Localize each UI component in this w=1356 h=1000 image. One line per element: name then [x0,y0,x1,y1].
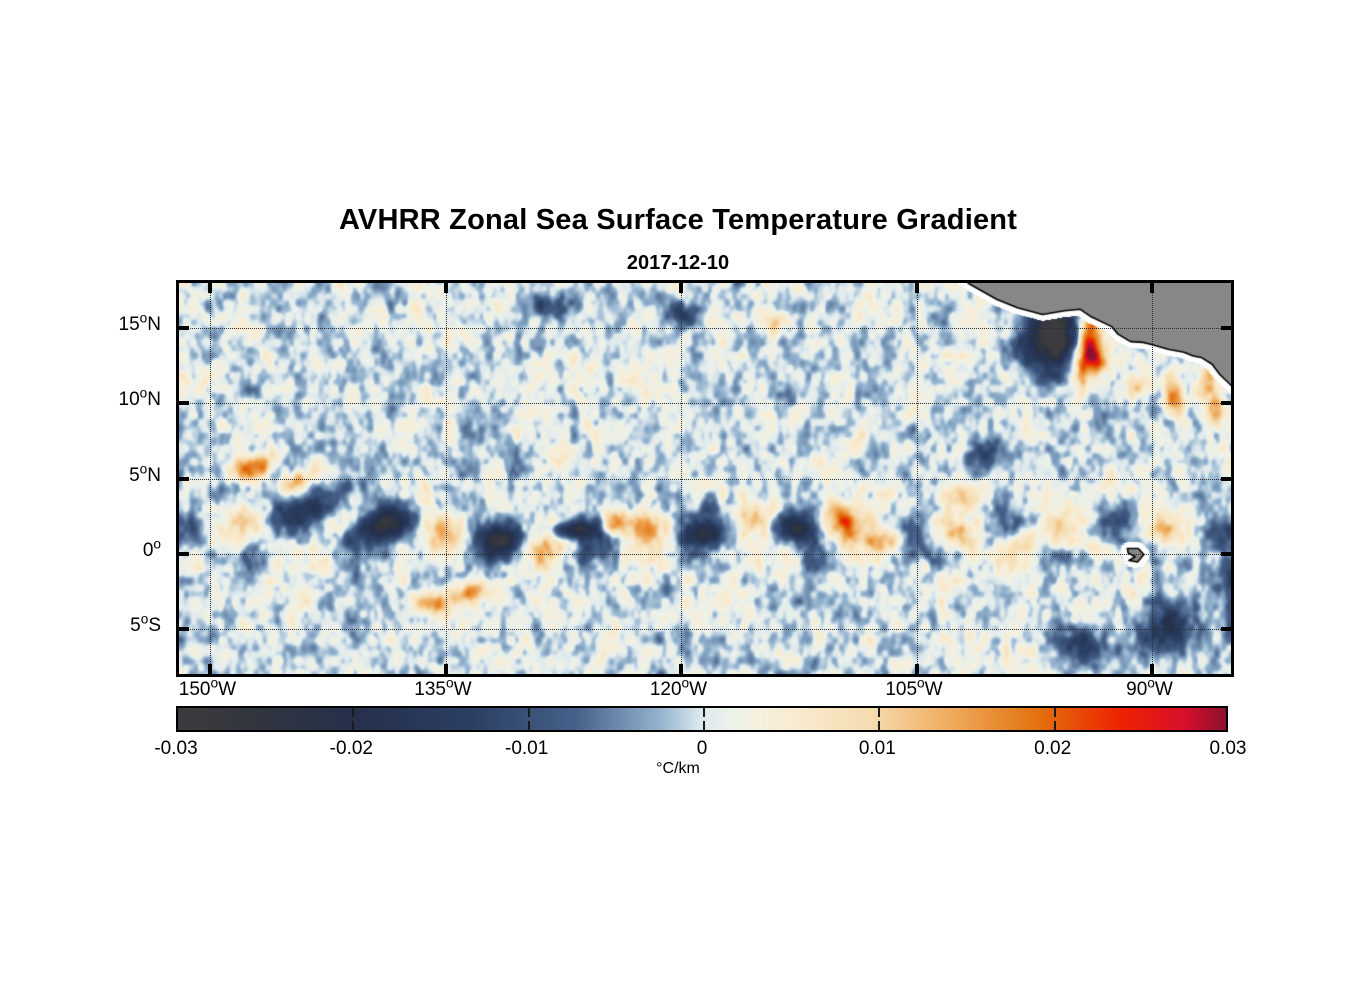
colorbar-tick-label: 0 [622,738,782,760]
y-axis-tick-label: 5oS [31,615,161,637]
y-axis-tick-label: 10oN [31,389,161,411]
colorbar-tick [878,721,880,730]
map-axes [176,280,1234,677]
page-subtitle: 2017-12-10 [0,252,1356,275]
colorbar-tick-label: -0.01 [447,738,607,760]
colorbar-tick [878,708,880,717]
colorbar-tick [703,721,705,730]
figure-canvas: AVHRR Zonal Sea Surface Temperature Grad… [0,0,1356,1000]
colorbar-tick [1054,708,1056,717]
colorbar-tick [528,708,530,717]
x-axis-tick-label: 135oW [363,679,523,701]
sst-gradient-heatmap [179,283,1231,674]
colorbar-tick-label: -0.02 [271,738,431,760]
colorbar-tick-label: -0.03 [96,738,256,760]
colorbar-tick-label: 0.02 [973,738,1133,760]
colorbar-tick [1054,721,1056,730]
x-axis-tick-label: 90oW [1069,679,1229,701]
y-axis-tick-label: 5oN [31,465,161,487]
colorbar-tick-label: 0.01 [797,738,957,760]
colorbar-tick-label: 0.03 [1148,738,1308,760]
colorbar [176,706,1228,732]
colorbar-tick [352,708,354,717]
x-axis-tick-label: 105oW [834,679,994,701]
y-axis-tick-label: 0o [31,540,161,562]
colorbar-unit-label: °C/km [0,760,1356,778]
page-title: AVHRR Zonal Sea Surface Temperature Grad… [0,204,1356,237]
colorbar-tick [703,708,705,717]
x-axis-tick-label: 150oW [127,679,287,701]
y-axis-tick-label: 15oN [31,314,161,336]
colorbar-tick [352,721,354,730]
x-axis-tick-label: 120oW [598,679,758,701]
colorbar-tick [528,721,530,730]
